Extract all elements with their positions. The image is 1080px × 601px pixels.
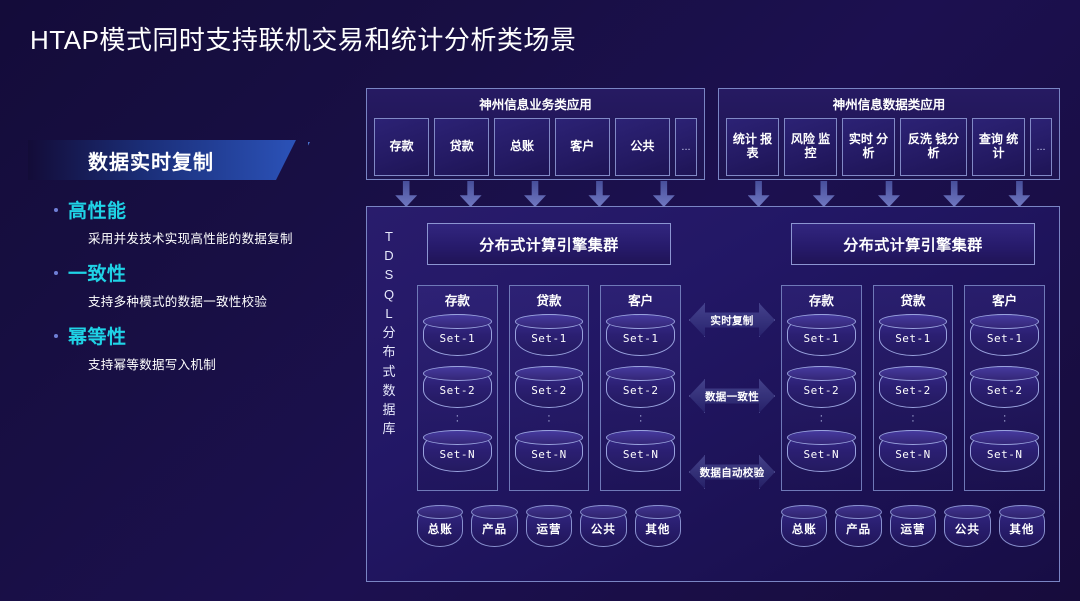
app-cell[interactable]: 查询 统计 [972, 118, 1025, 176]
set-cylinder[interactable]: Set-N [787, 430, 856, 472]
app-group-title: 神州信息业务类应用 [374, 94, 697, 113]
sync-arrow-label: 数据一致性 [705, 389, 759, 404]
banner-edge-accent [274, 142, 310, 178]
tdsql-label-char: Q [377, 285, 401, 304]
arrow-down-icon [503, 181, 567, 209]
app-cell[interactable]: 实时 分析 [842, 118, 895, 176]
section-banner: 数据实时复制 [28, 140, 296, 180]
bottom-cylinder-label: 公共 [955, 521, 980, 537]
set-column: 存款 Set-1 Set-2 ·· Set-N [417, 285, 498, 491]
bottom-cylinder[interactable]: 公共 [580, 505, 626, 547]
set-cylinder[interactable]: Set-2 [606, 366, 675, 408]
bottom-cylinder[interactable]: 总账 [781, 505, 827, 547]
sync-arrows: 实时复制 数据一致性 数据自动校验 [689, 303, 775, 531]
tdsql-label-char: T [377, 227, 401, 246]
set-column-title: 客户 [970, 290, 1039, 309]
set-label: Set-N [987, 448, 1023, 461]
set-column: 贷款 Set-1 Set-2 ·· Set-N [873, 285, 954, 491]
bullet-dot-icon [54, 334, 58, 338]
app-cell[interactable]: 风险 监控 [784, 118, 837, 176]
bullet-description: 采用并发技术实现高性能的数据复制 [88, 228, 358, 247]
bottom-cylinder-label: 运营 [901, 521, 926, 537]
tdsql-label-char: S [377, 265, 401, 284]
cluster-right: 分布式计算引擎集群 存款 Set-1 Set-2 ·· Set-N 贷款 Set… [775, 207, 1051, 583]
sync-arrow-label: 数据自动校验 [700, 465, 765, 480]
vertical-ellipsis-icon: ·· [879, 414, 948, 424]
set-column-title: 贷款 [515, 290, 584, 309]
app-cell-more[interactable]: ... [1030, 118, 1052, 176]
bullet-dot-icon [54, 208, 58, 212]
set-column-title: 贷款 [879, 290, 948, 309]
set-label: Set-N [623, 448, 659, 461]
app-cell[interactable]: 贷款 [434, 118, 489, 176]
app-cell[interactable]: 客户 [555, 118, 610, 176]
bidirectional-arrow-icon: 数据一致性 [689, 379, 775, 413]
arrow-down-icon [922, 181, 987, 209]
vertical-ellipsis-icon: ·· [423, 414, 492, 424]
set-label: Set-2 [804, 384, 840, 397]
bottom-cylinder[interactable]: 其他 [635, 505, 681, 547]
set-label: Set-1 [987, 332, 1023, 345]
bottom-cylinder-label: 总账 [428, 521, 453, 537]
architecture-diagram: 神州信息业务类应用 存款 贷款 总账 客户 公共 ... 神州信息数据类应用 统… [366, 88, 1060, 582]
set-label: Set-N [804, 448, 840, 461]
page-title: HTAP模式同时支持联机交易和统计分析类场景 [30, 20, 576, 57]
set-column-title: 存款 [787, 290, 856, 309]
app-group-business: 神州信息业务类应用 存款 贷款 总账 客户 公共 ... [366, 88, 705, 180]
set-label: Set-1 [531, 332, 567, 345]
set-cylinder[interactable]: Set-N [970, 430, 1039, 472]
vertical-ellipsis-icon: ·· [515, 414, 584, 424]
app-group-title: 神州信息数据类应用 [726, 94, 1052, 113]
set-label: Set-2 [623, 384, 659, 397]
arrow-down-icon [726, 181, 791, 209]
set-column: 客户 Set-1 Set-2 ·· Set-N [600, 285, 681, 491]
arrow-down-icon [567, 181, 631, 209]
arrow-down-icon [632, 181, 696, 209]
set-column-title: 客户 [606, 290, 675, 309]
bottom-cylinder-label: 公共 [591, 521, 616, 537]
tdsql-label-char: 数 [377, 381, 401, 400]
app-cell[interactable]: 反洗 钱分 析 [900, 118, 967, 176]
app-cell[interactable]: 公共 [615, 118, 670, 176]
set-cylinder[interactable]: Set-1 [787, 314, 856, 356]
cluster-left: 分布式计算引擎集群 存款 Set-1 Set-2 ·· Set-N 贷款 Set… [411, 207, 687, 583]
set-label: Set-1 [804, 332, 840, 345]
bullet-title: 一致性 [68, 259, 127, 286]
bottom-cylinder[interactable]: 其他 [999, 505, 1045, 547]
bottom-cylinder[interactable]: 公共 [944, 505, 990, 547]
set-cylinder[interactable]: Set-N [423, 430, 492, 472]
set-label: Set-2 [531, 384, 567, 397]
set-columns-left: 存款 Set-1 Set-2 ·· Set-N 贷款 Set-1 Set-2 ·… [417, 285, 681, 491]
set-label: Set-2 [440, 384, 476, 397]
bidirectional-arrow-icon: 实时复制 [689, 303, 775, 337]
list-item: 幂等性 支持幂等数据写入机制 [54, 322, 358, 373]
set-column: 贷款 Set-1 Set-2 ·· Set-N [509, 285, 590, 491]
tdsql-label-char: 分 [377, 323, 401, 342]
bullet-dot-icon [54, 271, 58, 275]
set-label: Set-2 [895, 384, 931, 397]
section-banner-label: 数据实时复制 [88, 146, 214, 175]
tdsql-label-char: 库 [377, 419, 401, 438]
set-columns-right: 存款 Set-1 Set-2 ·· Set-N 贷款 Set-1 Set-2 ·… [781, 285, 1045, 491]
set-cylinder[interactable]: Set-2 [787, 366, 856, 408]
sync-arrow-label: 实时复制 [710, 313, 753, 328]
bullet-title: 高性能 [68, 196, 127, 223]
arrow-row-data [726, 181, 1052, 209]
app-group-data: 神州信息数据类应用 统计 报表 风险 监控 实时 分析 反洗 钱分 析 查询 统… [718, 88, 1060, 180]
set-label: Set-N [895, 448, 931, 461]
bottom-cylinder-label: 总账 [792, 521, 817, 537]
bullet-description: 支持多种模式的数据一致性校验 [88, 291, 358, 310]
arrow-down-icon [791, 181, 856, 209]
tdsql-label-char: L [377, 304, 401, 323]
bottom-cylinder-label: 产品 [846, 521, 871, 537]
set-cylinder[interactable]: Set-1 [515, 314, 584, 356]
bullet-description: 支持幂等数据写入机制 [88, 354, 358, 373]
arrow-down-icon [856, 181, 921, 209]
set-cylinder[interactable]: Set-2 [515, 366, 584, 408]
app-cell-more[interactable]: ... [675, 118, 697, 176]
set-label: Set-N [440, 448, 476, 461]
compute-engine-cluster[interactable]: 分布式计算引擎集群 [427, 223, 671, 265]
set-cylinder[interactable]: Set-1 [423, 314, 492, 356]
bottom-cylinder-label: 产品 [482, 521, 507, 537]
set-cylinder[interactable]: Set-1 [879, 314, 948, 356]
arrow-row-business [374, 181, 696, 209]
tdsql-label-char: 据 [377, 400, 401, 419]
list-item: 高性能 采用并发技术实现高性能的数据复制 [54, 196, 358, 247]
tdsql-label-char: D [377, 246, 401, 265]
bottom-cylinder[interactable]: 总账 [417, 505, 463, 547]
compute-engine-cluster[interactable]: 分布式计算引擎集群 [791, 223, 1035, 265]
list-item: 一致性 支持多种模式的数据一致性校验 [54, 259, 358, 310]
bullet-title: 幂等性 [68, 322, 127, 349]
bidirectional-arrow-icon: 数据自动校验 [689, 455, 775, 489]
set-label: Set-N [531, 448, 567, 461]
bottom-cylinder[interactable]: 产品 [471, 505, 517, 547]
tdsql-panel: T D S Q L 分 布 式 数 据 库 分布式计算引擎集群 存款 Set-1… [366, 206, 1060, 582]
set-label: Set-1 [623, 332, 659, 345]
tdsql-label-char: 布 [377, 342, 401, 361]
set-column-title: 存款 [423, 290, 492, 309]
arrow-down-icon [987, 181, 1052, 209]
left-feature-panel: 数据实时复制 高性能 采用并发技术实现高性能的数据复制 一致性 支持多种模式的数… [28, 140, 358, 385]
set-label: Set-1 [440, 332, 476, 345]
arrow-down-icon [438, 181, 502, 209]
vertical-ellipsis-icon: ·· [606, 414, 675, 424]
vertical-ellipsis-icon: ·· [787, 414, 856, 424]
bottom-cylinder[interactable]: 产品 [835, 505, 881, 547]
set-cylinder[interactable]: Set-2 [423, 366, 492, 408]
set-cylinder[interactable]: Set-2 [970, 366, 1039, 408]
bottom-cylinder[interactable]: 运营 [526, 505, 572, 547]
arrow-down-icon [374, 181, 438, 209]
set-cylinder[interactable]: Set-N [515, 430, 584, 472]
set-cylinder[interactable]: Set-N [606, 430, 675, 472]
set-label: Set-1 [895, 332, 931, 345]
set-column: 存款 Set-1 Set-2 ·· Set-N [781, 285, 862, 491]
set-cylinder[interactable]: Set-N [879, 430, 948, 472]
set-cylinder[interactable]: Set-1 [970, 314, 1039, 356]
app-cell[interactable]: 存款 [374, 118, 429, 176]
vertical-ellipsis-icon: ·· [970, 414, 1039, 424]
bottom-cylinders-left: 总账 产品 运营 公共 其他 [417, 505, 681, 547]
set-label: Set-2 [987, 384, 1023, 397]
feature-bullet-list: 高性能 采用并发技术实现高性能的数据复制 一致性 支持多种模式的数据一致性校验 … [28, 196, 358, 373]
tdsql-vertical-label: T D S Q L 分 布 式 数 据 库 [377, 227, 401, 439]
set-column: 客户 Set-1 Set-2 ·· Set-N [964, 285, 1045, 491]
app-cell[interactable]: 总账 [494, 118, 549, 176]
set-cylinder[interactable]: Set-1 [606, 314, 675, 356]
set-cylinder[interactable]: Set-2 [879, 366, 948, 408]
tdsql-label-char: 式 [377, 362, 401, 381]
bottom-cylinder[interactable]: 运营 [890, 505, 936, 547]
app-cell[interactable]: 统计 报表 [726, 118, 779, 176]
bottom-cylinders-right: 总账 产品 运营 公共 其他 [781, 505, 1045, 547]
bottom-cylinder-label: 运营 [537, 521, 562, 537]
bottom-cylinder-label: 其他 [645, 521, 670, 537]
bottom-cylinder-label: 其他 [1009, 521, 1034, 537]
